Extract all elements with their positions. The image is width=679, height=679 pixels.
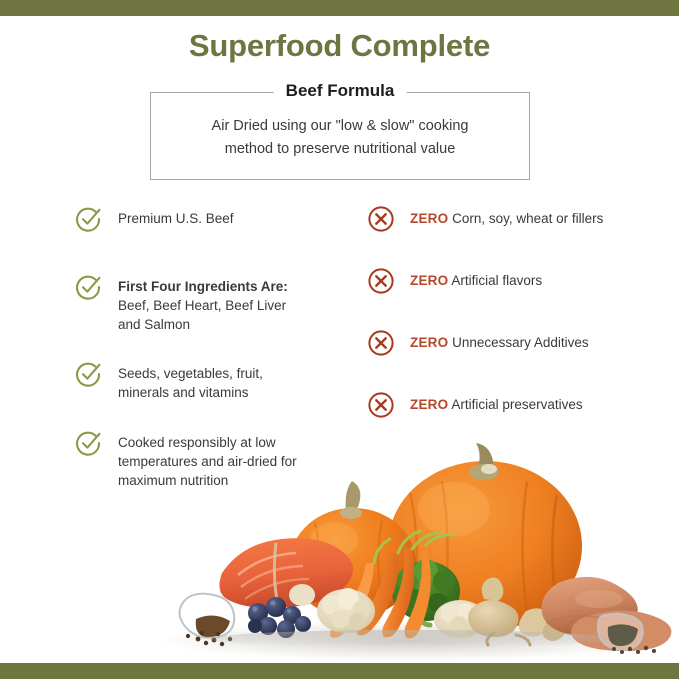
includes-list: Premium U.S. Beef First Four Ingredients… (74, 204, 364, 490)
list-item: ZERO Artificial flavors (366, 266, 666, 296)
infographic-page: Superfood Complete Beef Formula Air Drie… (0, 0, 679, 679)
blueberries (248, 597, 311, 638)
pumpkin-large (388, 443, 582, 631)
formula-legend: Beef Formula (274, 81, 407, 101)
x-circle-icon (366, 204, 396, 234)
page-title: Superfood Complete (0, 28, 679, 64)
list-item-line: Seeds, vegetables, fruit, (118, 366, 263, 381)
check-circle-icon (74, 428, 104, 458)
list-item-line: Cooked responsibly at low (118, 435, 276, 450)
list-item: First Four Ingredients Are: Beef, Beef H… (74, 272, 364, 334)
list-item-line: temperatures and air-dried for (118, 454, 297, 469)
list-item: ZERO Artificial preservatives (366, 390, 666, 420)
zero-badge: ZERO (410, 273, 448, 288)
formula-description-line-2: method to preserve nutritional value (151, 138, 529, 161)
list-item: Premium U.S. Beef (74, 204, 364, 234)
list-item-line: minerals and vitamins (118, 385, 249, 400)
list-item-text: Seeds, vegetables, fruit, minerals and v… (118, 359, 263, 402)
top-accent-bar (0, 0, 679, 16)
pumpkin-medium (290, 481, 416, 618)
list-item-text: ZERO Artificial flavors (410, 266, 542, 290)
list-item: ZERO Corn, soy, wheat or fillers (366, 204, 666, 234)
list-item-line: Artificial flavors (451, 273, 542, 288)
list-item-text: Cooked responsibly at low temperatures a… (118, 428, 297, 490)
list-item-line: and Salmon (118, 317, 190, 332)
check-circle-icon (74, 272, 104, 302)
list-item-lead: First Four Ingredients Are: (118, 279, 288, 294)
sweet-potatoes (542, 577, 672, 651)
ginger-root (468, 577, 567, 645)
list-item-line: Artificial preservatives (451, 397, 582, 412)
list-item-line: Corn, soy, wheat or fillers (452, 211, 603, 226)
broccoli (392, 559, 460, 625)
excludes-list: ZERO Corn, soy, wheat or fillers ZERO Ar… (366, 204, 666, 420)
x-circle-icon (366, 266, 396, 296)
bottom-accent-bar (0, 663, 679, 679)
list-item-text: ZERO Artificial preservatives (410, 390, 583, 414)
carrots (330, 531, 454, 638)
list-item: Cooked responsibly at low temperatures a… (74, 428, 364, 490)
zero-badge: ZERO (410, 397, 448, 412)
list-item-line: Unnecessary Additives (452, 335, 589, 350)
seed-jar-left (179, 594, 234, 647)
cauliflower (289, 584, 486, 638)
formula-description: Air Dried using our "low & slow" cooking… (151, 115, 529, 161)
zero-badge: ZERO (410, 211, 448, 226)
x-circle-icon (366, 328, 396, 358)
list-item: Seeds, vegetables, fruit, minerals and v… (74, 359, 364, 402)
check-circle-icon (74, 204, 104, 234)
list-item-line: maximum nutrition (118, 473, 228, 488)
list-item-text: Premium U.S. Beef (118, 204, 234, 228)
zero-badge: ZERO (410, 335, 448, 350)
list-item: ZERO Unnecessary Additives (366, 328, 666, 358)
list-item-text: First Four Ingredients Are: Beef, Beef H… (118, 272, 288, 334)
seed-bowl-right (598, 614, 656, 654)
list-item-text: ZERO Corn, soy, wheat or fillers (410, 204, 603, 228)
x-circle-icon (366, 390, 396, 420)
salmon-fillet (219, 538, 353, 608)
formula-callout-box: Beef Formula Air Dried using our "low & … (150, 92, 530, 180)
list-item-line: Premium U.S. Beef (118, 211, 234, 226)
check-circle-icon (74, 359, 104, 389)
formula-description-line-1: Air Dried using our "low & slow" cooking (151, 115, 529, 138)
list-item-line: Beef, Beef Heart, Beef Liver (118, 298, 286, 313)
list-item-text: ZERO Unnecessary Additives (410, 328, 589, 352)
